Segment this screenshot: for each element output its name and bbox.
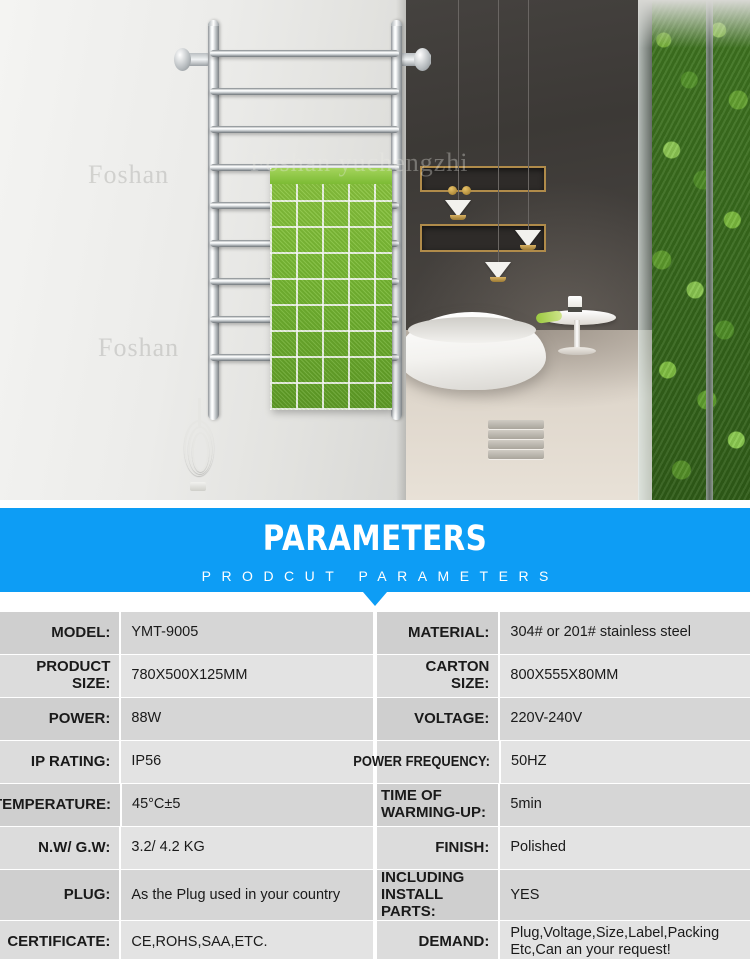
banner-arrow-icon — [363, 592, 387, 606]
param-value: IP56 — [121, 741, 373, 783]
row-half-right: FINISH: Polished — [375, 827, 750, 869]
param-value-line2: Etc,Can an your request! — [510, 942, 670, 958]
param-label-line2: WARMING-UP: — [381, 804, 486, 821]
table-row: POWER: 88W VOLTAGE: 220V-240V — [0, 698, 750, 740]
wall-mount-cap-right — [414, 48, 431, 71]
table-row: MODEL: YMT-9005 MATERIAL: 304# or 201# s… — [0, 612, 750, 654]
table-row: PRODUCT SIZE: 780X500X125MM CARTON SIZE:… — [0, 655, 750, 697]
param-value: YES — [500, 870, 750, 920]
param-label: MODEL: — [0, 612, 119, 654]
green-plant-wall — [652, 0, 750, 500]
row-half-right: MATERIAL: 304# or 201# stainless steel — [375, 612, 750, 654]
row-half-left: PLUG: As the Plug used in your country — [0, 870, 375, 920]
param-value: 50HZ — [501, 741, 750, 783]
param-label: POWER: — [0, 698, 119, 740]
table-row: PLUG: As the Plug used in your country I… — [0, 870, 750, 920]
table-row: CERTIFICATE: CE,ROHS,SAA,ETC. DEMAND: Pl… — [0, 921, 750, 959]
param-label: INCLUDING INSTALL PARTS: — [377, 870, 498, 920]
gold-knob-left — [448, 186, 457, 195]
ceiling-fade — [638, 0, 750, 48]
param-label: PRODUCT SIZE: — [0, 655, 119, 697]
param-value: 780X500X125MM — [121, 655, 373, 697]
param-value: Polished — [500, 827, 750, 869]
table-row: TEMPERATURE: 45°C±5 TIME OF WARMING-UP: … — [0, 784, 750, 826]
row-half-right: POWER FREQUENCY: 50HZ — [375, 741, 750, 783]
glass-mullion — [706, 0, 713, 500]
row-half-right: VOLTAGE: 220V-240V — [375, 698, 750, 740]
glass-partition — [638, 0, 652, 500]
row-half-left: MODEL: YMT-9005 — [0, 612, 375, 654]
param-value: Plug,Voltage,Size,Label,Packing Etc,Can … — [500, 921, 750, 959]
param-label: CARTON SIZE: — [377, 655, 498, 697]
param-label-line1: INCLUDING — [381, 869, 464, 886]
param-label-line2: INSTALL PARTS: — [381, 886, 443, 920]
param-value: 220V-240V — [500, 698, 750, 740]
table-row: IP RATING: IP56 POWER FREQUENCY: 50HZ — [0, 741, 750, 783]
lamp-cord-2 — [528, 0, 529, 230]
rack-bar-3 — [210, 126, 399, 133]
row-half-right: DEMAND: Plug,Voltage,Size,Label,Packing … — [375, 921, 750, 959]
rack-bar-1 — [210, 50, 399, 57]
watermark-primary: Foshan — [88, 160, 169, 190]
row-half-right: TIME OF WARMING-UP: 5min — [375, 784, 750, 826]
heated-towel-rack — [200, 20, 410, 420]
power-plug — [190, 482, 206, 491]
row-half-left: TEMPERATURE: 45°C±5 — [0, 784, 375, 826]
param-label: IP RATING: — [0, 741, 119, 783]
gold-knob-right — [462, 186, 471, 195]
side-table-stem — [574, 320, 580, 350]
product-parameters-page: Foshan yuchengzhi Foshan Foshan PARAMETE… — [0, 0, 750, 959]
bathroom-scene — [406, 0, 750, 500]
param-value: YMT-9005 — [121, 612, 373, 654]
row-half-left: N.W/ G.W: 3.2/ 4.2 KG — [0, 827, 375, 869]
param-value: 45°C±5 — [122, 784, 373, 826]
green-towel — [270, 168, 392, 410]
param-label: N.W/ G.W: — [0, 827, 119, 869]
param-label: CERTIFICATE: — [0, 921, 119, 959]
candle-decor — [568, 296, 582, 312]
watermark-faint: Foshan yuchengzhi — [250, 148, 468, 178]
folded-towels-stack — [488, 420, 544, 458]
banner-subtitle: PRODCUT PARAMETERS — [0, 568, 750, 584]
bathtub — [406, 312, 546, 390]
parameters-banner: PARAMETERS PRODCUT PARAMETERS — [0, 508, 750, 592]
side-table-base — [558, 347, 596, 355]
param-label: POWER FREQUENCY: — [377, 741, 499, 783]
power-cord — [182, 398, 218, 490]
parameters-table: MODEL: YMT-9005 MATERIAL: 304# or 201# s… — [0, 612, 750, 959]
param-value-line1: Plug,Voltage,Size,Label,Packing — [510, 925, 719, 941]
param-value: 88W — [121, 698, 373, 740]
param-label: VOLTAGE: — [377, 698, 498, 740]
lamp-cord-3 — [498, 0, 499, 262]
row-half-right: CARTON SIZE: 800X555X80MM — [375, 655, 750, 697]
wall-mount-cap-left — [174, 48, 191, 71]
param-label: TIME OF WARMING-UP: — [377, 784, 498, 826]
param-label: FINISH: — [377, 827, 498, 869]
rack-bar-2 — [210, 88, 399, 95]
table-row: N.W/ G.W: 3.2/ 4.2 KG FINISH: Polished — [0, 827, 750, 869]
param-value: 3.2/ 4.2 KG — [121, 827, 373, 869]
param-value: 5min — [500, 784, 750, 826]
banner-title: PARAMETERS — [60, 519, 690, 559]
param-label: TEMPERATURE: — [0, 784, 120, 826]
param-value: 304# or 201# stainless steel — [500, 612, 750, 654]
param-value: 800X555X80MM — [500, 655, 750, 697]
param-label-line1: TIME OF — [381, 787, 442, 804]
row-half-left: CERTIFICATE: CE,ROHS,SAA,ETC. — [0, 921, 375, 959]
param-label: DEMAND: — [377, 921, 498, 959]
row-half-right: INCLUDING INSTALL PARTS: YES — [375, 870, 750, 920]
row-half-left: PRODUCT SIZE: 780X500X125MM — [0, 655, 375, 697]
product-photo: Foshan yuchengzhi Foshan Foshan — [0, 0, 750, 500]
row-half-left: IP RATING: IP56 — [0, 741, 375, 783]
param-value: CE,ROHS,SAA,ETC. — [121, 921, 373, 959]
row-half-left: POWER: 88W — [0, 698, 375, 740]
param-value: As the Plug used in your country — [121, 870, 373, 920]
param-label: MATERIAL: — [377, 612, 498, 654]
watermark-secondary: Foshan — [98, 333, 179, 363]
param-label: PLUG: — [0, 870, 119, 920]
